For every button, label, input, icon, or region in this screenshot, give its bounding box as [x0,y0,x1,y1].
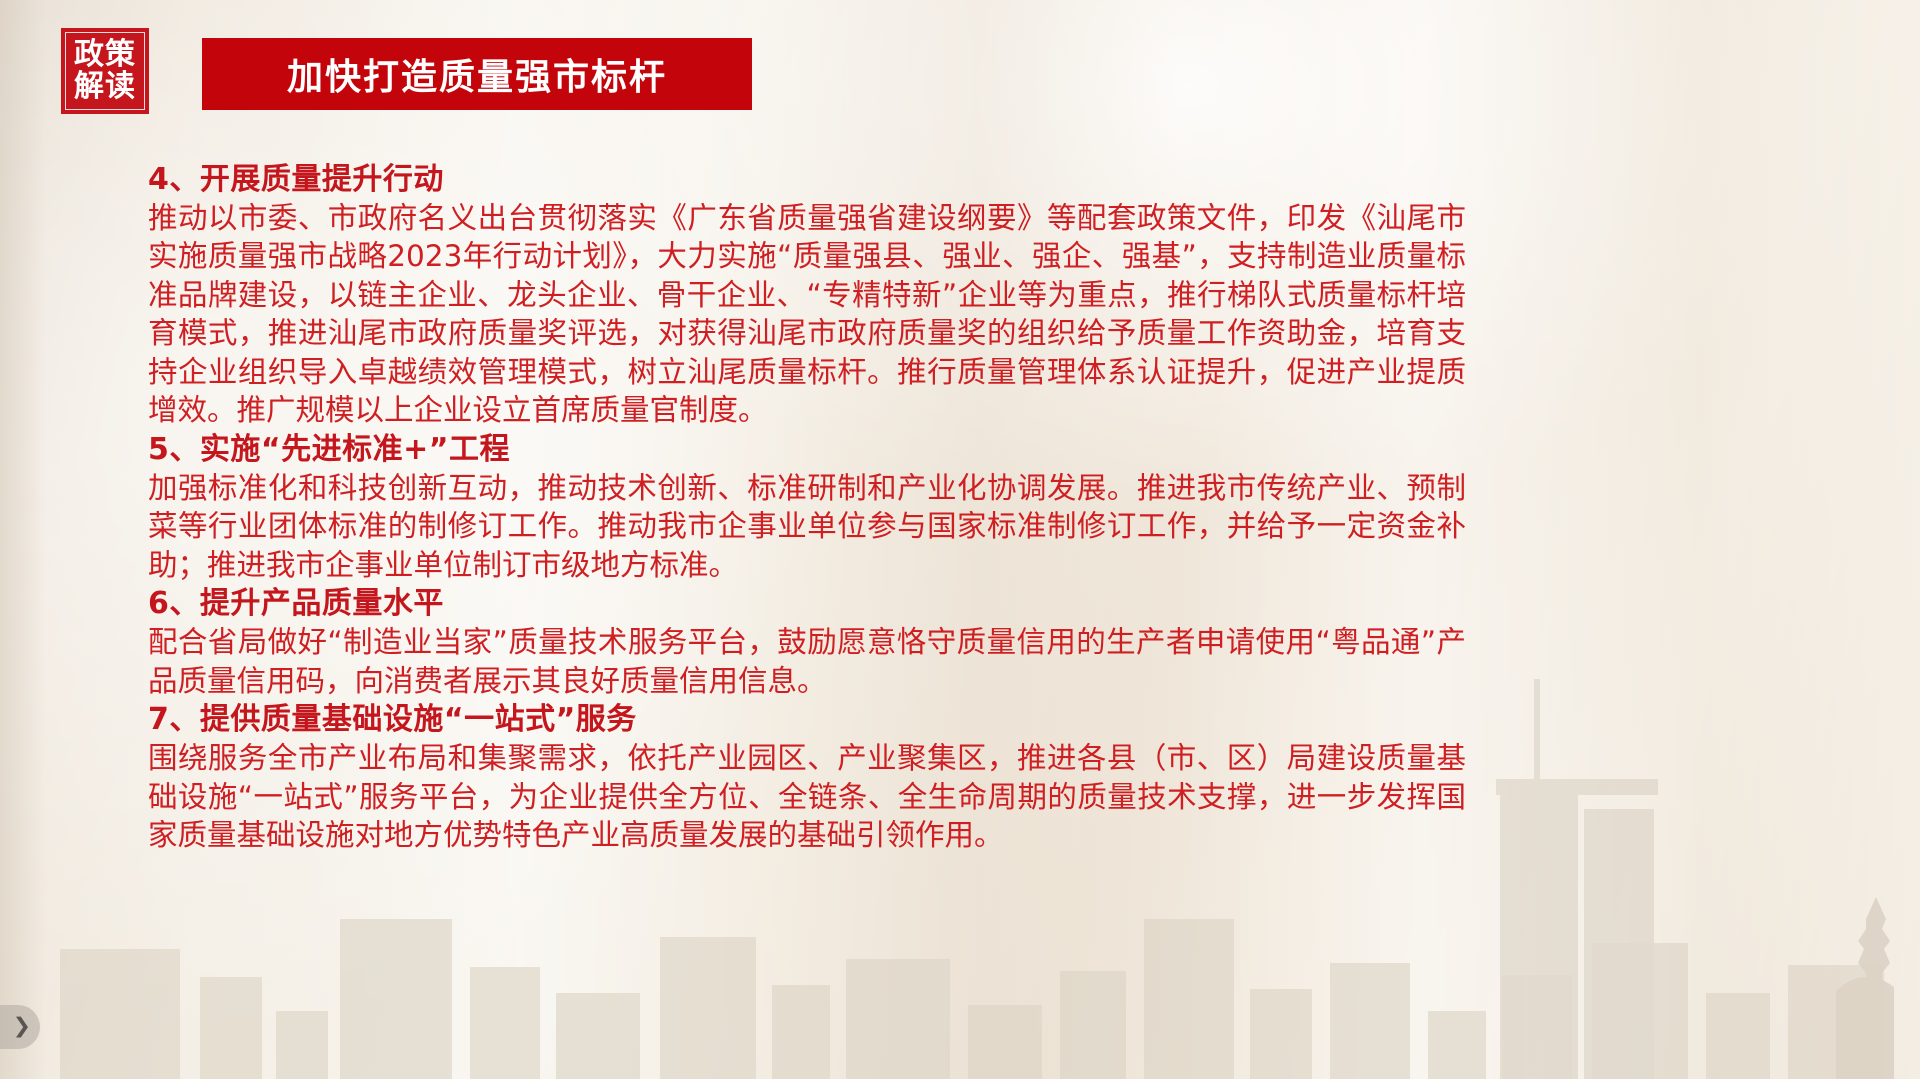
section-heading-7: 7、提供质量基础设施“一站式”服务 [148,700,1466,739]
chevron-right-icon[interactable]: ❯ [13,1017,31,1038]
badge-label-line1: 政策 [74,39,136,71]
section-body-7: 围绕服务全市产业布局和集聚需求，依托产业园区、产业聚集区，推进各县（市、区）局建… [148,739,1466,854]
section-body-5: 加强标准化和科技创新互动，推动技术创新、标准研制和产业化协调发展。推进我市传统产… [148,469,1466,584]
slide-header: 政策 解读 加快打造质量强市标杆 [0,0,1920,140]
section-heading-6: 6、提升产品质量水平 [148,584,1466,623]
policy-content: 4、开展质量提升行动 推动以市委、市政府名义出台贯彻落实《广东省质量强省建设纲要… [148,160,1466,855]
policy-section-4: 4、开展质量提升行动 推动以市委、市政府名义出台贯彻落实《广东省质量强省建设纲要… [148,160,1466,430]
section-heading-4: 4、开展质量提升行动 [148,160,1466,199]
policy-section-5: 5、实施“先进标准+”工程 加强标准化和科技创新互动，推动技术创新、标准研制和产… [148,430,1466,584]
badge-label-line2: 解读 [74,71,136,103]
next-page-tab[interactable]: ❯ [0,1005,40,1049]
section-body-4: 推动以市委、市政府名义出台贯彻落实《广东省质量强省建设纲要》等配套政策文件，印发… [148,199,1466,430]
section-body-6: 配合省局做好“制造业当家”质量技术服务平台，鼓励愿意恪守质量信用的生产者申请使用… [148,623,1466,700]
policy-section-7: 7、提供质量基础设施“一站式”服务 围绕服务全市产业布局和集聚需求，依托产业园区… [148,700,1466,854]
policy-interpretation-badge: 政策 解读 [61,28,149,114]
page-title: 加快打造质量强市标杆 [287,48,667,100]
policy-section-6: 6、提升产品质量水平 配合省局做好“制造业当家”质量技术服务平台，鼓励愿意恪守质… [148,584,1466,700]
section-heading-5: 5、实施“先进标准+”工程 [148,430,1466,469]
title-banner: 加快打造质量强市标杆 [202,38,752,110]
slide-canvas: 政策 解读 加快打造质量强市标杆 4、开展质量提升行动 推动以市委、市政府名义出… [0,0,1920,1079]
